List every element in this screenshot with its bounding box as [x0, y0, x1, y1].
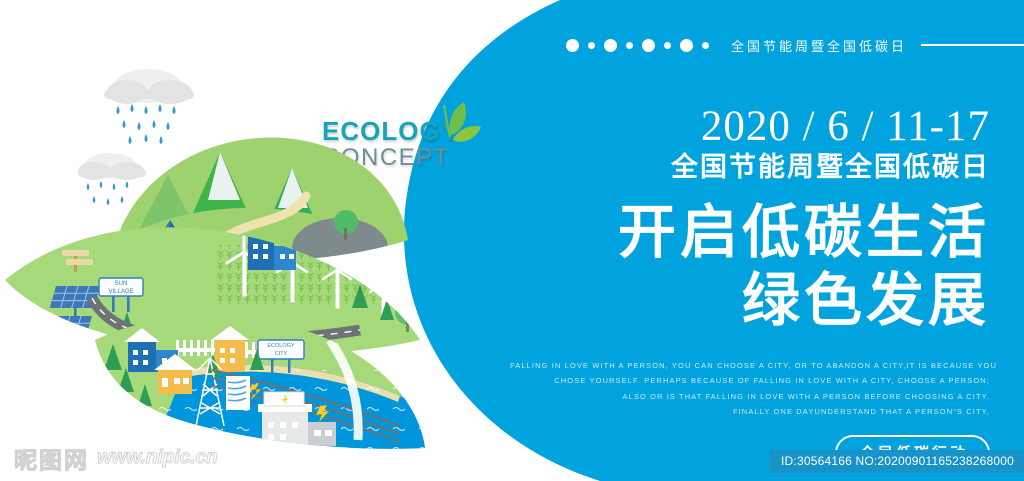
svg-text:SUN: SUN	[115, 281, 128, 287]
event-date-subtitle: 全国节能周暨全国低碳日	[510, 151, 990, 185]
description-line: FALLING IN LOVE WITH A PERSON, YOU CAN C…	[510, 358, 990, 373]
topbar: 全国节能周暨全国低碳日	[566, 32, 1024, 58]
headline-line-2: 绿色发展	[510, 267, 990, 335]
topbar-label: 全国节能周暨全国低碳日	[731, 36, 907, 55]
dot-small-icon	[588, 42, 595, 49]
description-line: CHOSE YOURSELF. PERHAPS BECAUSE OF FALLI…	[510, 373, 990, 388]
dot-small-icon	[702, 42, 709, 49]
dot-small-icon	[664, 42, 671, 49]
rain-cloud-icon	[104, 69, 194, 144]
poster-canvas: 全国节能周暨全国低碳日 ECOLOGY CONCEPT	[0, 0, 1024, 481]
rain-cloud-icon	[78, 153, 146, 205]
asset-id-strip: ID:30564166 NO:20200901165238268000	[769, 450, 1024, 473]
description-paragraph: FALLING IN LOVE WITH A PERSON, YOU CAN C…	[510, 358, 990, 420]
dot-large-icon	[642, 39, 655, 52]
dot-large-icon	[604, 39, 617, 52]
svg-text:VILLAGE: VILLAGE	[108, 289, 133, 295]
headline-line-1: 开启低碳生活	[510, 199, 990, 267]
dot-large-icon	[680, 39, 693, 52]
svg-text:CITY: CITY	[275, 351, 288, 357]
page-title: 开启低碳生活 绿色发展	[510, 199, 990, 336]
description-line: ALSO OR IS THAT FALLING IN LOVE WITH A P…	[510, 389, 990, 404]
dot-small-icon	[626, 42, 633, 49]
description-line: FINALLY ONE DAYUNDERSTAND THAT A PERSON"…	[510, 404, 990, 419]
eco-landscape-illustration: SUN VILLAGE	[0, 40, 470, 460]
svg-text:ECOLOGY: ECOLOGY	[267, 343, 295, 349]
right-text-panel: 2020 / 6 / 11-17 全国节能周暨全国低碳日 开启低碳生活 绿色发展…	[510, 104, 990, 471]
topbar-rule	[921, 44, 1024, 46]
decorative-dots	[566, 39, 709, 52]
event-date: 2020 / 6 / 11-17	[510, 104, 990, 149]
dot-large-icon	[566, 39, 579, 52]
